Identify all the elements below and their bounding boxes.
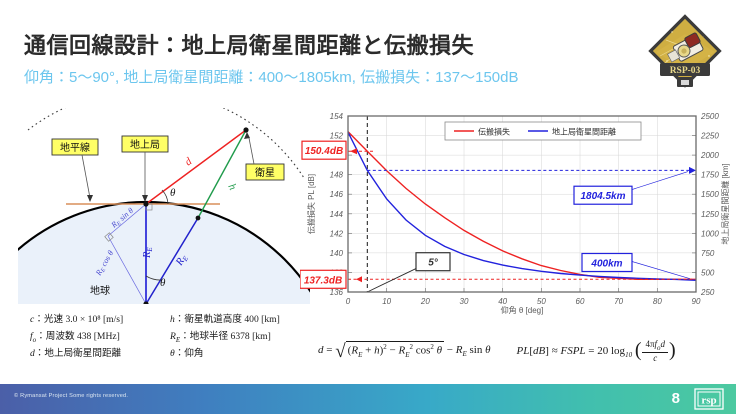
x-tick-label: 0 (346, 297, 351, 306)
label-theta-center: θ (160, 277, 166, 289)
x-tick-label: 70 (614, 297, 623, 306)
y-tick-label: 144 (330, 210, 344, 219)
x-tick-label: 90 (692, 297, 701, 306)
y2-axis-title: 地上局衛星間距離 [km] (720, 163, 730, 244)
mission-badge-icon: RSP-03 (646, 12, 724, 96)
symbol-re-text: ：地球半径 6378 [km] (180, 331, 271, 342)
callout-pl-max: 150.4dB (302, 141, 346, 159)
symbol-row: fo：周波数 438 [MHz] RE：地球半径 6378 [km] (30, 329, 310, 346)
callout-pl-min: 137.3dB (300, 270, 346, 288)
y2-tick-label: 2500 (700, 112, 719, 121)
y-tick-label: 140 (330, 249, 344, 258)
symbol-h-text: ：衛星軌道高度 400 [km] (175, 314, 280, 325)
page-title: 通信回線設計：地上局衛星間距離と伝搬損失 (24, 28, 474, 60)
y2-tick-label: 250 (700, 288, 715, 297)
page-number: 8 (672, 390, 680, 407)
y-axis-title: 伝搬損失 PL [dB] (306, 174, 316, 234)
callout-pl-max-label: 150.4dB (305, 146, 343, 157)
y2-tick-label: 1750 (701, 171, 719, 180)
equation-path-loss: PL[dB] ≈ FSPL = 20 log10 (4πfodc) (517, 338, 676, 364)
y2-tick-label: 750 (701, 249, 715, 258)
slide-root: 通信回線設計：地上局衛星間距離と伝搬損失 仰角：5〜90°, 地上局衛星間距離：… (0, 0, 736, 414)
y-tick-label: 146 (330, 190, 344, 199)
x-tick-label: 30 (460, 297, 469, 306)
equations-row: d = √(RE + h)2 − RE2 cos2 θ − RE sin θ P… (318, 338, 728, 364)
rsp-logo-icon: rsp (694, 388, 724, 410)
callout-satellite-label: 衛星 (255, 166, 275, 179)
symbol-legend: c：光速 3.0 × 10⁸ [m/s] h：衛星軌道高度 400 [km] f… (30, 312, 310, 363)
label-theta-top: θ (170, 187, 176, 199)
plot-background (348, 116, 696, 292)
x-axis-title: 仰角 θ [deg] (501, 305, 544, 315)
legend-label-1: 地上局衛星間距離 (552, 127, 616, 137)
symbol-row: c：光速 3.0 × 10⁸ [m/s] h：衛星軌道高度 400 [km] (30, 312, 310, 329)
callout-dist-min: 400km (582, 253, 632, 271)
y-tick-label: 136 (330, 288, 344, 297)
page-subtitle: 仰角：5〜90°, 地上局衛星間距離：400〜1805km, 伝搬損失：137〜… (24, 66, 519, 87)
callout-pl-min-label: 137.3dB (304, 275, 342, 286)
x-tick-label: 20 (420, 297, 430, 306)
callout-horizon: 地平線 (52, 139, 98, 202)
copyright-text: © Rymansat Project Some rights reserved. (14, 393, 128, 399)
callout-horizon-label: 地平線 (60, 141, 90, 154)
link-budget-chart: 1361381401421441461481501521542505007501… (300, 106, 736, 328)
callout-dist-max-label: 1804.5km (580, 191, 625, 202)
svg-text:rsp: rsp (701, 395, 716, 407)
y-tick-label: 142 (330, 229, 344, 238)
callout-dist-min-label: 400km (590, 258, 622, 269)
x-tick-label: 10 (382, 297, 391, 306)
y2-tick-label: 2000 (700, 151, 719, 160)
callout-dist-max: 1804.5km (574, 186, 632, 204)
callout-elevation-label: 5° (428, 258, 439, 269)
y2-tick-label: 1500 (701, 190, 719, 199)
y2-tick-label: 500 (701, 268, 715, 277)
badge-mission-code: RSP-03 (670, 66, 701, 76)
x-tick-label: 80 (653, 297, 662, 306)
altitude-h-line (198, 130, 246, 218)
symbol-f-text: ：周波数 438 [MHz] (36, 331, 120, 342)
geometry-diagram: 地平線 地上局 衛星 d h RE RE RE sin θ RE (18, 108, 310, 304)
symbol-c-text: ：光速 3.0 × 10⁸ [m/s] (34, 314, 123, 325)
slide-footer: © Rymansat Project Some rights reserved.… (0, 384, 736, 414)
y2-tick-label: 2250 (700, 132, 719, 141)
y-tick-label: 152 (330, 132, 344, 141)
y-tick-label: 148 (330, 171, 344, 180)
x-tick-label: 40 (498, 297, 507, 306)
label-earth: 地球 (90, 284, 110, 297)
x-tick-label: 50 (537, 297, 546, 306)
callout-satellite: 衛星 (244, 132, 284, 180)
symbol-row: d：地上局衛星間距離 θ：仰角 (30, 346, 310, 363)
x-tick-label: 60 (576, 297, 585, 306)
legend-label-0: 伝搬損失 (478, 127, 510, 137)
y-tick-label: 154 (330, 112, 344, 121)
callout-ground-station-label: 地上局 (130, 138, 160, 151)
symbol-theta-text: ：仰角 (175, 348, 204, 359)
symbol-d-text: ：地上局衛星間距離 (35, 348, 121, 359)
equation-distance: d = √(RE + h)2 − RE2 cos2 θ − RE sin θ (318, 341, 491, 360)
y2-tick-label: 1000 (701, 229, 719, 238)
callout-elevation: 5° (416, 253, 450, 271)
label-d: d (183, 155, 195, 168)
y2-tick-label: 1250 (701, 210, 719, 219)
chart-legend: 伝搬損失地上局衛星間距離 (445, 122, 641, 140)
label-h: h (225, 182, 238, 193)
